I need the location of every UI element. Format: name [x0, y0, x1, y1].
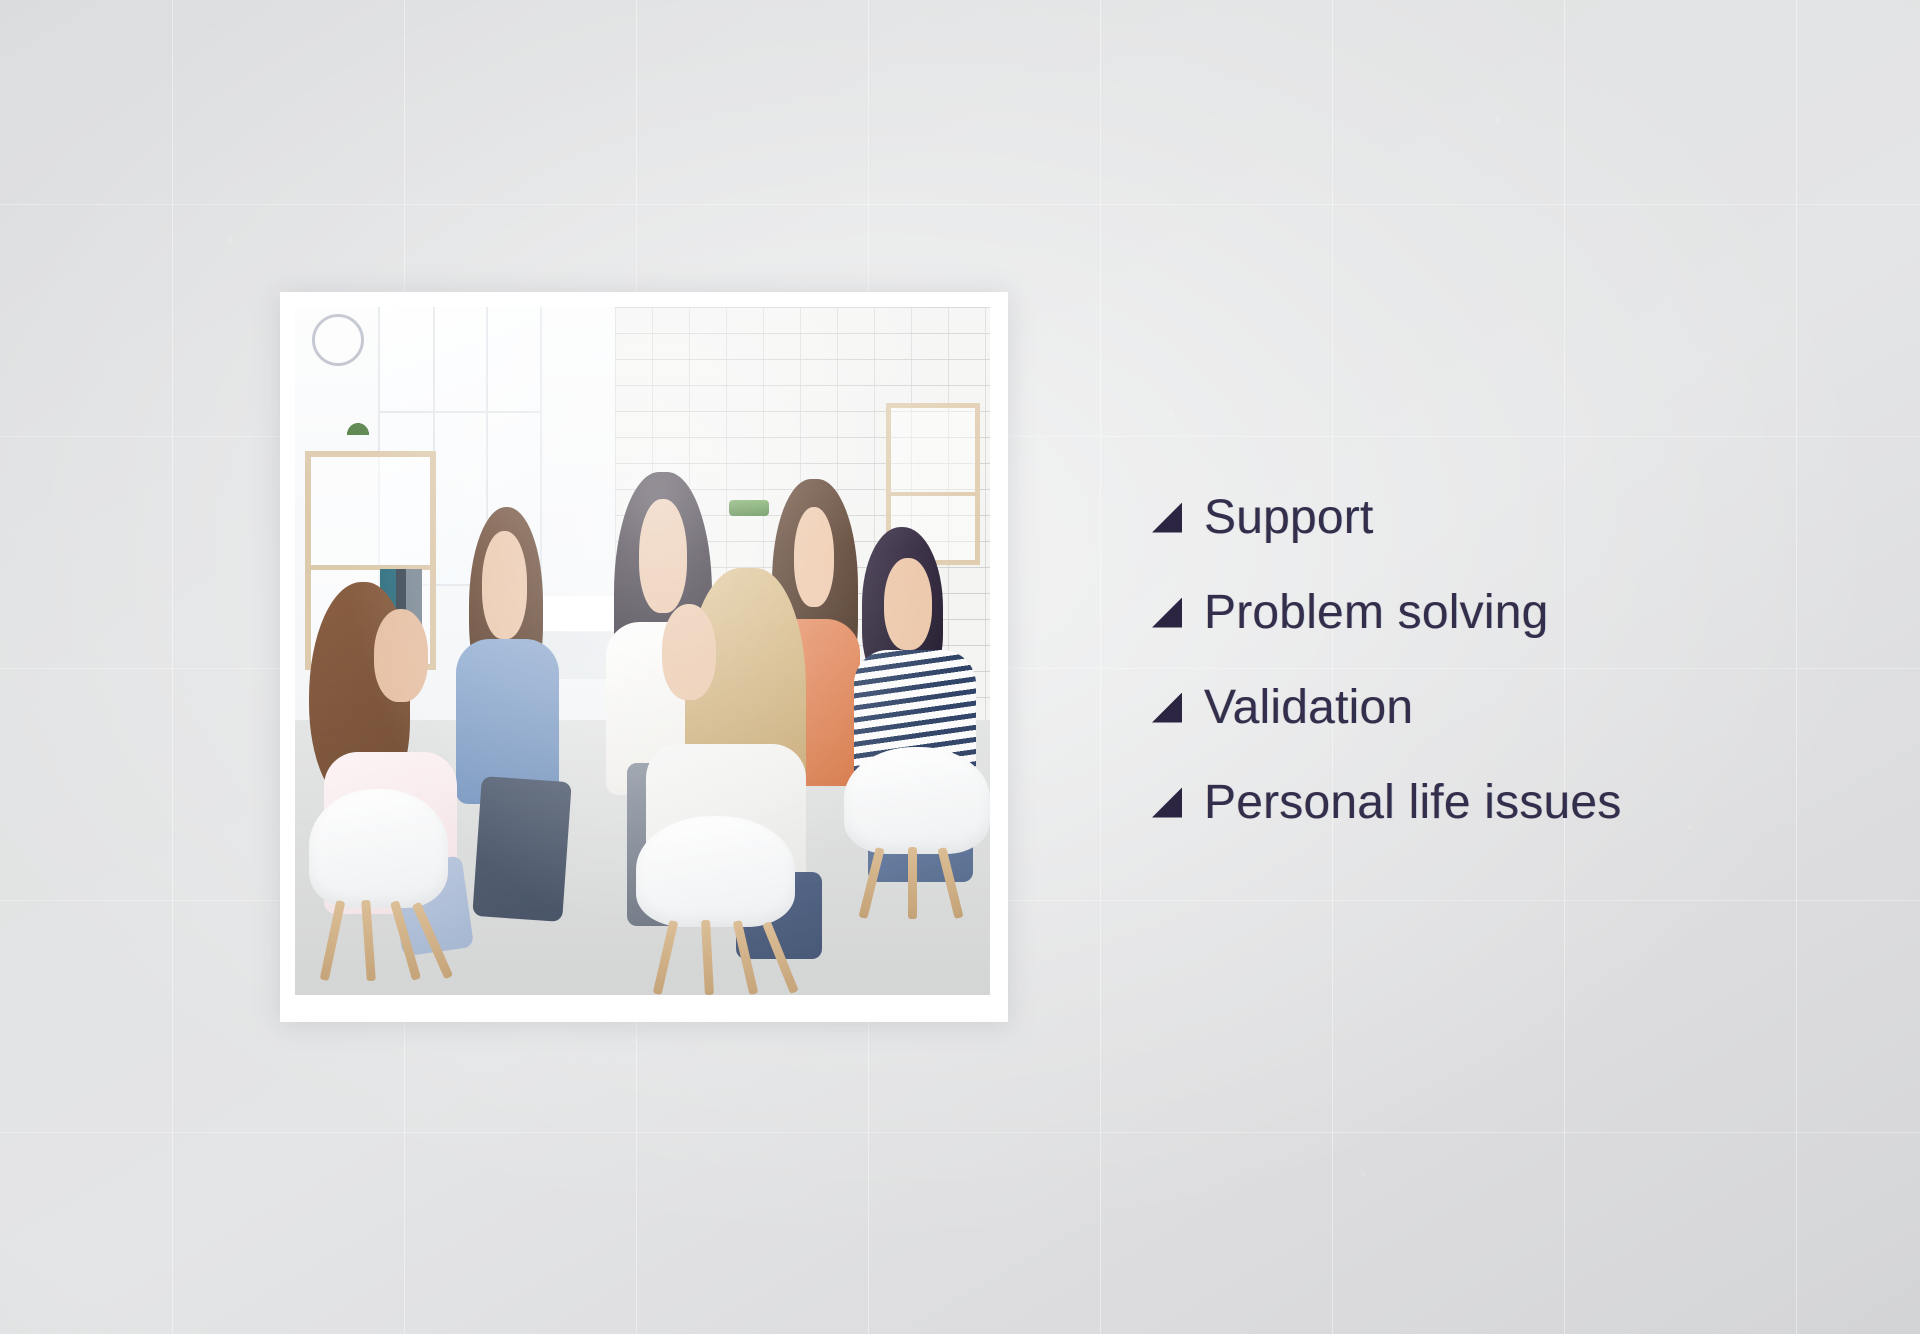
list-item[interactable]: Personal life issues: [1152, 755, 1852, 850]
slide-canvas: Support Problem solving Validation Perso…: [0, 0, 1920, 1334]
photo-scene: [295, 307, 990, 995]
bullet-label: Validation: [1204, 680, 1413, 735]
chair-front-left: [309, 789, 448, 982]
bullet-label: Support: [1204, 490, 1374, 545]
triangle-bullet-icon: [1152, 693, 1182, 723]
chair-right: [844, 747, 990, 919]
chair-front-right: [636, 816, 796, 995]
bullet-list: Support Problem solving Validation Perso…: [1152, 470, 1852, 850]
wall-clock-icon: [312, 314, 364, 366]
triangle-bullet-icon: [1152, 788, 1182, 818]
triangle-bullet-icon: [1152, 598, 1182, 628]
bullet-label: Personal life issues: [1204, 775, 1622, 830]
list-item[interactable]: Validation: [1152, 660, 1852, 755]
shelf-plant: [345, 421, 371, 435]
bullet-label: Problem solving: [1204, 585, 1548, 640]
list-item[interactable]: Problem solving: [1152, 565, 1852, 660]
triangle-bullet-icon: [1152, 503, 1182, 533]
list-item[interactable]: Support: [1152, 470, 1852, 565]
support-group-photo: [295, 307, 990, 995]
photo-frame: [280, 292, 1008, 1022]
